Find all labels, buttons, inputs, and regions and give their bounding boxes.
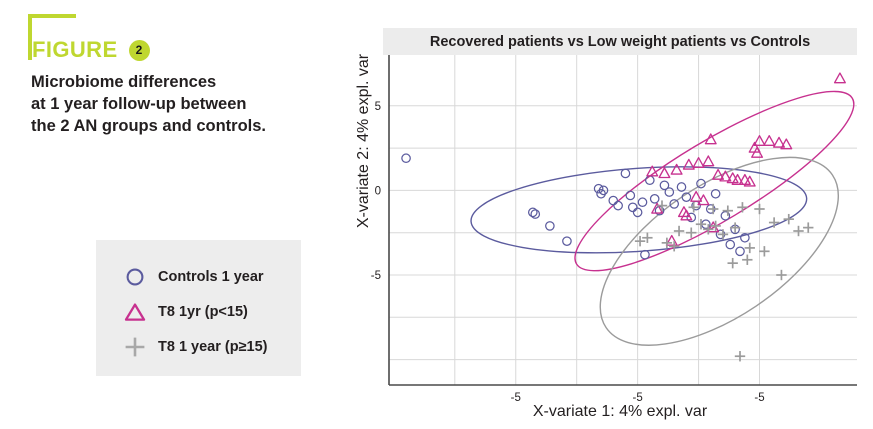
figure-number-badge: 2 (129, 40, 150, 61)
series-triangle (647, 73, 845, 245)
scatter-plot-svg: -5-5-550-5 (330, 14, 873, 429)
svg-text:-5: -5 (511, 392, 521, 404)
legend-item-t8-high-p: T8 1 year (p≥15) (118, 331, 268, 363)
svg-text:-5: -5 (754, 392, 764, 404)
figure-caption-block: FIGURE 2 Microbiome differences at 1 yea… (0, 0, 360, 429)
svg-text:-5: -5 (371, 270, 381, 282)
circle-marker-icon (118, 262, 152, 292)
confidence-ellipse-layer (468, 64, 873, 382)
svg-text:5: 5 (375, 101, 381, 113)
triangle-marker-icon (118, 297, 152, 327)
chart-legend: Controls 1 year T8 1yr (p<15) T8 1 year … (96, 240, 301, 376)
scatter-plot-panel: Recovered patients vs Low weight patient… (330, 14, 873, 429)
legend-label-controls: Controls 1 year (158, 269, 264, 285)
legend-item-controls: Controls 1 year (118, 261, 264, 293)
caption-line-3: the 2 AN groups and controls. (31, 116, 331, 138)
caption-line-1: Microbiome differences (31, 72, 331, 94)
data-marker-layer (402, 73, 845, 361)
series-plus (635, 200, 814, 361)
svg-text:0: 0 (375, 185, 381, 197)
plus-marker-icon (118, 332, 152, 362)
legend-label-t8-low-p: T8 1yr (p<15) (158, 304, 248, 320)
caption-line-2: at 1 year follow-up between (31, 94, 331, 116)
legend-item-t8-low-p: T8 1yr (p<15) (118, 296, 248, 328)
svg-text:-5: -5 (633, 392, 643, 404)
figure-caption-text: Microbiome differences at 1 year follow-… (31, 72, 331, 138)
figure-header: FIGURE 2 (32, 37, 150, 63)
figure-label: FIGURE (32, 37, 118, 63)
legend-label-t8-high-p: T8 1 year (p≥15) (158, 339, 268, 355)
